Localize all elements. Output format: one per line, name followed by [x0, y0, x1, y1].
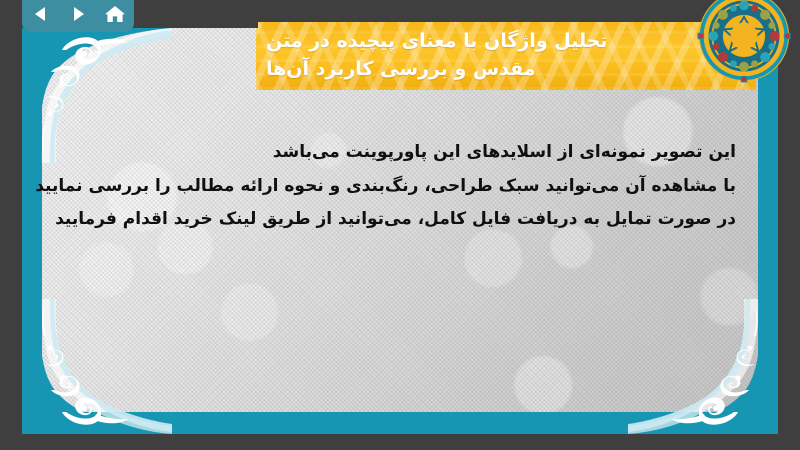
- banner-notch: [234, 0, 258, 28]
- page-title: تحلیل واژگان با معنای پیچیده در متن مقدس…: [256, 22, 756, 90]
- home-icon: [104, 4, 126, 24]
- slide-nav-toolbar: [22, 0, 134, 32]
- slide-title-banner: تحلیل واژگان با معنای پیچیده در متن مقدس…: [256, 22, 756, 90]
- triangle-right-icon: [68, 4, 88, 24]
- home-button[interactable]: [102, 2, 128, 26]
- title-line: تحلیل واژگان با معنای پیچیده در متن: [266, 28, 608, 56]
- previous-slide-button[interactable]: [28, 2, 54, 26]
- triangle-left-icon: [31, 4, 51, 24]
- body-line: در صورت تمایل به دریافت فایل کامل، می‌تو…: [62, 203, 736, 237]
- presentation-viewer: این تصویر نمونه‌ای از اسلایدهای این پاور…: [0, 0, 800, 450]
- body-line: این تصویر نمونه‌ای از اسلایدهای این پاور…: [62, 136, 736, 170]
- corner-ornament-bottom-right: [628, 299, 778, 434]
- next-slide-button[interactable]: [65, 2, 91, 26]
- title-line: مقدس و بررسی کاربرد آن‌ها: [266, 56, 536, 84]
- slide-body-text: این تصویر نمونه‌ای از اسلایدهای این پاور…: [62, 136, 736, 237]
- islamic-medallion-icon: [696, 0, 792, 84]
- body-line: با مشاهده آن می‌توانید سبک طراحی، رنگ‌بن…: [62, 170, 736, 204]
- corner-ornament-bottom-left: [22, 299, 172, 434]
